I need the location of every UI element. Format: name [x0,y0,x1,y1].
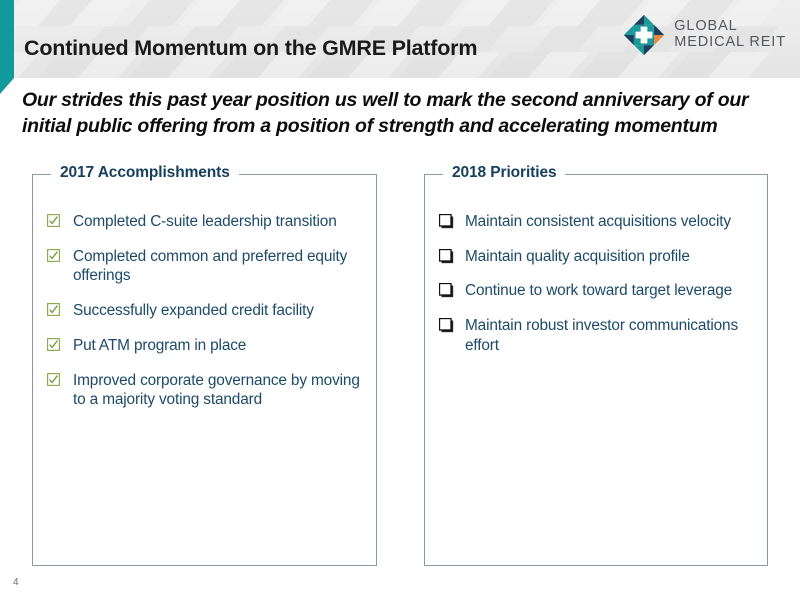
checked-checkbox-icon [47,370,73,386]
list-item: Continue to work toward target leverage [439,280,755,301]
list-item: Put ATM program in place [47,335,364,356]
checked-checkbox-icon [47,335,73,351]
panel-2017-accomplishments: 2017 Accomplishments Completed C-suite l… [32,174,377,566]
logo-wordmark: GLOBAL MEDICAL REIT [674,19,786,50]
company-logo: GLOBAL MEDICAL REIT [623,14,786,56]
list-item-label: Improved corporate governance by moving … [73,370,364,410]
list-item: Maintain consistent acquisitions velocit… [439,211,755,232]
panel-legend-accomplishments: 2017 Accomplishments [51,164,239,182]
left-accent-arrow [0,78,14,94]
priorities-list: Maintain consistent acquisitions velocit… [425,211,767,370]
panel-legend-priorities: 2018 Priorities [443,164,565,182]
list-item-label: Successfully expanded credit facility [73,300,314,321]
checked-checkbox-icon [47,246,73,262]
empty-checkbox-icon [439,280,465,298]
list-item-label: Maintain robust investor communications … [465,315,755,355]
list-item: Successfully expanded credit facility [47,300,364,321]
empty-checkbox-icon [439,211,465,229]
checked-checkbox-icon [47,300,73,316]
panel-2018-priorities: 2018 Priorities Maintain consistent acqu… [424,174,768,566]
list-item-label: Completed common and preferred equity of… [73,246,364,286]
list-item: Completed C-suite leadership transition [47,211,364,232]
logo-wordmark-line2: MEDICAL REIT [674,35,786,51]
list-item-label: Maintain quality acquisition profile [465,246,690,267]
list-item: Completed common and preferred equity of… [47,246,364,286]
list-item-label: Put ATM program in place [73,335,246,356]
logo-wordmark-line1: GLOBAL [674,19,786,35]
page-title: Continued Momentum on the GMRE Platform [24,36,477,61]
checked-checkbox-icon [47,211,73,227]
list-item-label: Maintain consistent acquisitions velocit… [465,211,731,232]
empty-checkbox-icon [439,246,465,264]
slide-subtitle: Our strides this past year position us w… [22,88,777,140]
list-item: Improved corporate governance by moving … [47,370,364,410]
list-item: Maintain quality acquisition profile [439,246,755,267]
left-accent-bar [0,0,14,78]
list-item-label: Completed C-suite leadership transition [73,211,337,232]
empty-checkbox-icon [439,315,465,333]
page-number: 4 [13,577,19,588]
list-item-label: Continue to work toward target leverage [465,280,732,301]
list-item: Maintain robust investor communications … [439,315,755,355]
accomplishments-list: Completed C-suite leadership transition … [33,211,376,424]
global-medical-reit-cross-icon [623,14,665,56]
